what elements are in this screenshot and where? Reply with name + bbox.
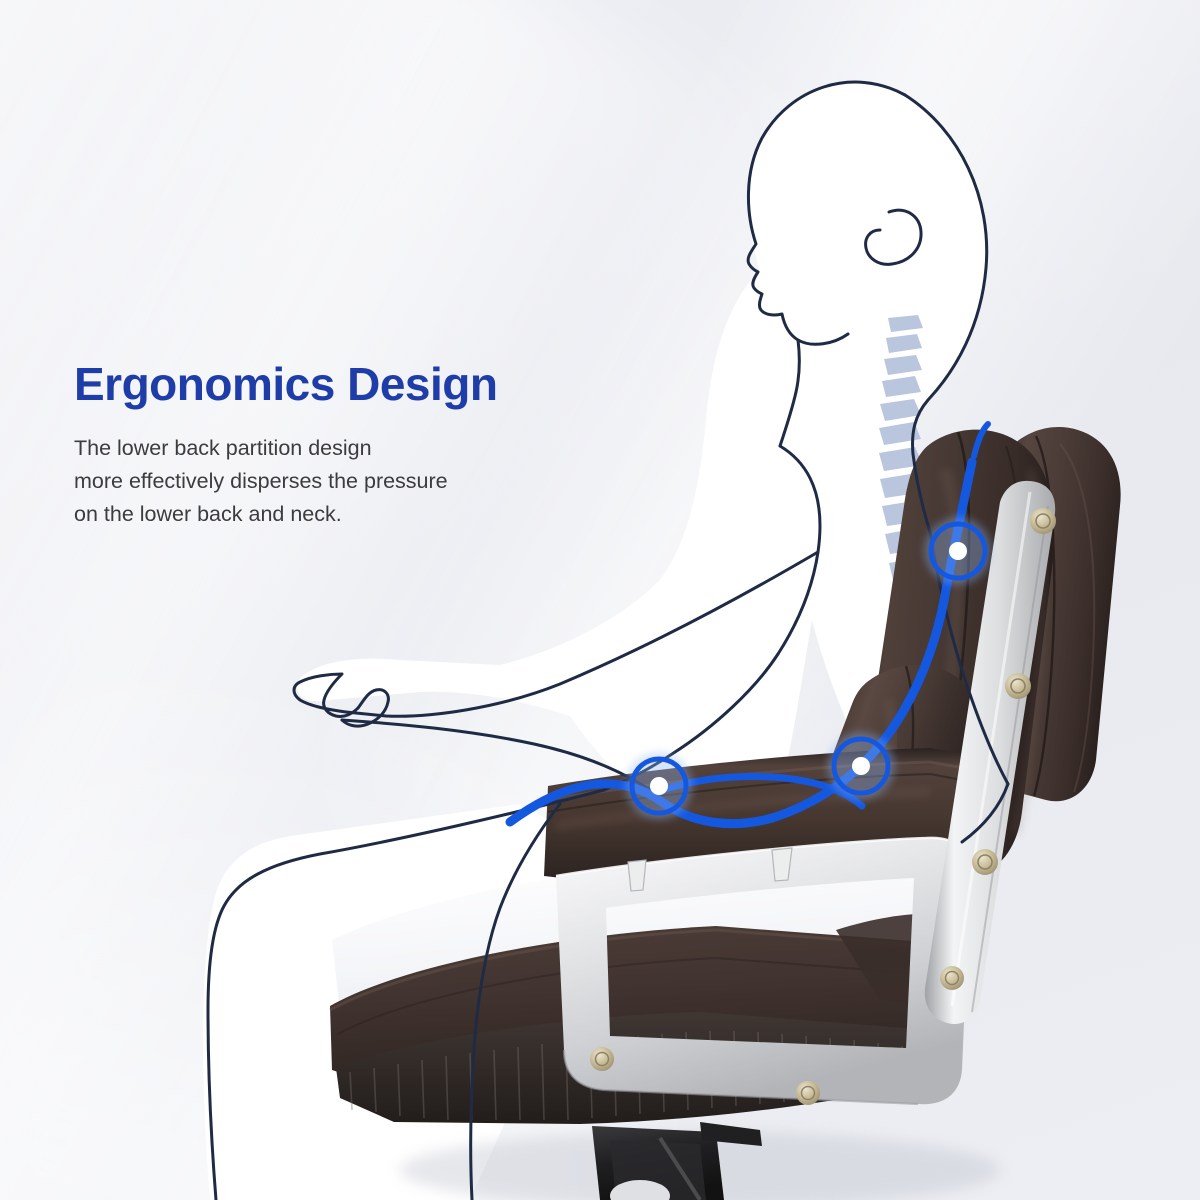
rivet: [940, 966, 964, 990]
subcopy-line-2: more effectively disperses the pressure: [74, 465, 634, 498]
rivet: [972, 849, 998, 875]
subcopy: The lower back partition design more eff…: [74, 432, 634, 530]
rivet: [1005, 673, 1031, 699]
rivet: [1030, 508, 1056, 534]
page-title: Ergonomics Design: [74, 360, 634, 408]
subcopy-line-3: on the lower back and neck.: [74, 498, 634, 531]
subcopy-line-1: The lower back partition design: [74, 432, 634, 465]
product-illustration: [0, 0, 1200, 1200]
rivet: [590, 1047, 614, 1071]
text-block: Ergonomics Design The lower back partiti…: [74, 360, 634, 530]
banner-canvas: Ergonomics Design The lower back partiti…: [0, 0, 1200, 1200]
rivet: [796, 1081, 820, 1105]
